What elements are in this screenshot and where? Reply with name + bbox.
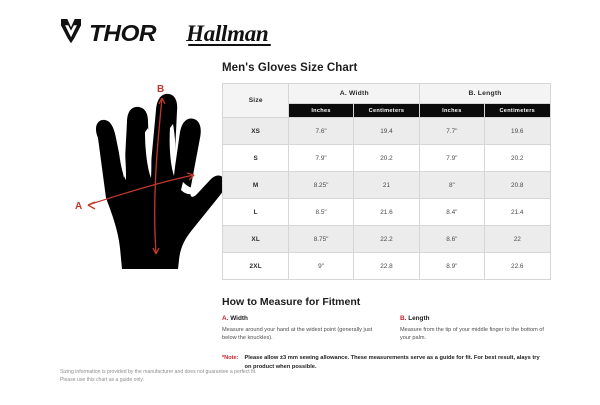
- cell-length-inches: 8.4": [420, 199, 484, 226]
- thor-logo-lockup: THOR: [60, 18, 152, 49]
- header-size: Size: [223, 84, 289, 118]
- table-row: L 8.5" 21.6 8.4" 21.4: [223, 199, 551, 226]
- cell-size: XS: [223, 118, 289, 145]
- header-length-centimeters: Centimeters: [484, 104, 550, 118]
- cell-width-centimeters: 21.6: [353, 199, 419, 226]
- header-width-inches: Inches: [289, 104, 353, 118]
- header-group-width: A. Width: [289, 84, 420, 104]
- table-row: XL 8.75" 22.2 8.6" 22: [223, 226, 551, 253]
- cell-width-inches: 7.6": [289, 118, 353, 145]
- howto-text-length: Measure from the tip of your middle fing…: [400, 326, 552, 343]
- howto-name-width: Width: [230, 315, 248, 322]
- cell-length-inches: 8.9": [420, 253, 484, 280]
- cell-size: 2XL: [223, 253, 289, 280]
- cell-length-inches: 8": [420, 172, 484, 199]
- cell-width-inches: 8.75": [289, 226, 353, 253]
- cell-length-inches: 7.7": [420, 118, 484, 145]
- footer-line-2: Please use this chart as a guide only.: [60, 376, 330, 384]
- header-width-centimeters: Centimeters: [353, 104, 419, 118]
- cell-length-inches: 7.9": [420, 145, 484, 172]
- hand-measurement-illustration: B A: [52, 62, 222, 282]
- illustration-label-a: A: [75, 201, 82, 212]
- cell-length-centimeters: 22: [484, 226, 550, 253]
- size-chart-table: Size A. Width B. Length Inches Centimete…: [222, 83, 551, 280]
- table-header-row-groups: Size A. Width B. Length: [223, 84, 551, 104]
- cell-length-centimeters: 22.6: [484, 253, 550, 280]
- brand-header: THOR Hallman: [60, 12, 268, 54]
- table-row: M 8.25" 21 8" 20.8: [223, 172, 551, 199]
- cell-length-centimeters: 20.8: [484, 172, 550, 199]
- cell-size: XL: [223, 226, 289, 253]
- size-chart-content: Men's Gloves Size Chart Size A. Width B.…: [222, 62, 552, 372]
- footer-line-1: Sizing information is provided by the ma…: [60, 368, 330, 376]
- howto-heading-length: B. Length: [400, 315, 552, 323]
- cell-width-centimeters: 22.2: [353, 226, 419, 253]
- table-row: S 7.9" 20.2 7.9" 20.2: [223, 145, 551, 172]
- cell-width-inches: 8.25": [289, 172, 353, 199]
- howto-letter-b: B.: [400, 315, 406, 322]
- thor-helmet-mark-icon: [60, 18, 82, 49]
- howto-item-length: B. Length Measure from the tip of your m…: [400, 315, 552, 343]
- howto-heading-width: A. Width: [222, 315, 374, 323]
- cell-width-centimeters: 21: [353, 172, 419, 199]
- cell-length-centimeters: 20.2: [484, 145, 550, 172]
- page-title: Men's Gloves Size Chart: [222, 62, 552, 74]
- hallman-wordmark: Hallman: [186, 22, 268, 45]
- thor-wordmark: THOR: [89, 22, 156, 45]
- howto-item-width: A. Width Measure around your hand at the…: [222, 315, 374, 343]
- howto-letter-a: A.: [222, 315, 228, 322]
- cell-width-centimeters: 22.8: [353, 253, 419, 280]
- table-row: XS 7.6" 19.4 7.7" 19.6: [223, 118, 551, 145]
- cell-width-inches: 9": [289, 253, 353, 280]
- header-group-length: B. Length: [420, 84, 551, 104]
- cell-width-inches: 8.5": [289, 199, 353, 226]
- howto-name-length: Length: [408, 315, 429, 322]
- howto-columns: A. Width Measure around your hand at the…: [222, 315, 552, 343]
- cell-width-centimeters: 20.2: [353, 145, 419, 172]
- hand-silhouette-shape: [96, 94, 222, 269]
- cell-size: L: [223, 199, 289, 226]
- cell-size: M: [223, 172, 289, 199]
- illustration-label-b: B: [157, 84, 164, 95]
- cell-length-centimeters: 19.6: [484, 118, 550, 145]
- note-label: *Note:: [222, 354, 238, 361]
- table-header: Size A. Width B. Length Inches Centimete…: [223, 84, 551, 118]
- cell-length-inches: 8.6": [420, 226, 484, 253]
- footer-disclaimer: Sizing information is provided by the ma…: [60, 368, 330, 385]
- cell-length-centimeters: 21.4: [484, 199, 550, 226]
- cell-size: S: [223, 145, 289, 172]
- cell-width-inches: 7.9": [289, 145, 353, 172]
- cell-width-centimeters: 19.4: [353, 118, 419, 145]
- table-row: 2XL 9" 22.8 8.9" 22.6: [223, 253, 551, 280]
- header-length-inches: Inches: [420, 104, 484, 118]
- table-body: XS 7.6" 19.4 7.7" 19.6 S 7.9" 20.2 7.9" …: [223, 118, 551, 280]
- howto-section-title: How to Measure for Fitment: [222, 296, 552, 308]
- howto-text-width: Measure around your hand at the widest p…: [222, 326, 374, 343]
